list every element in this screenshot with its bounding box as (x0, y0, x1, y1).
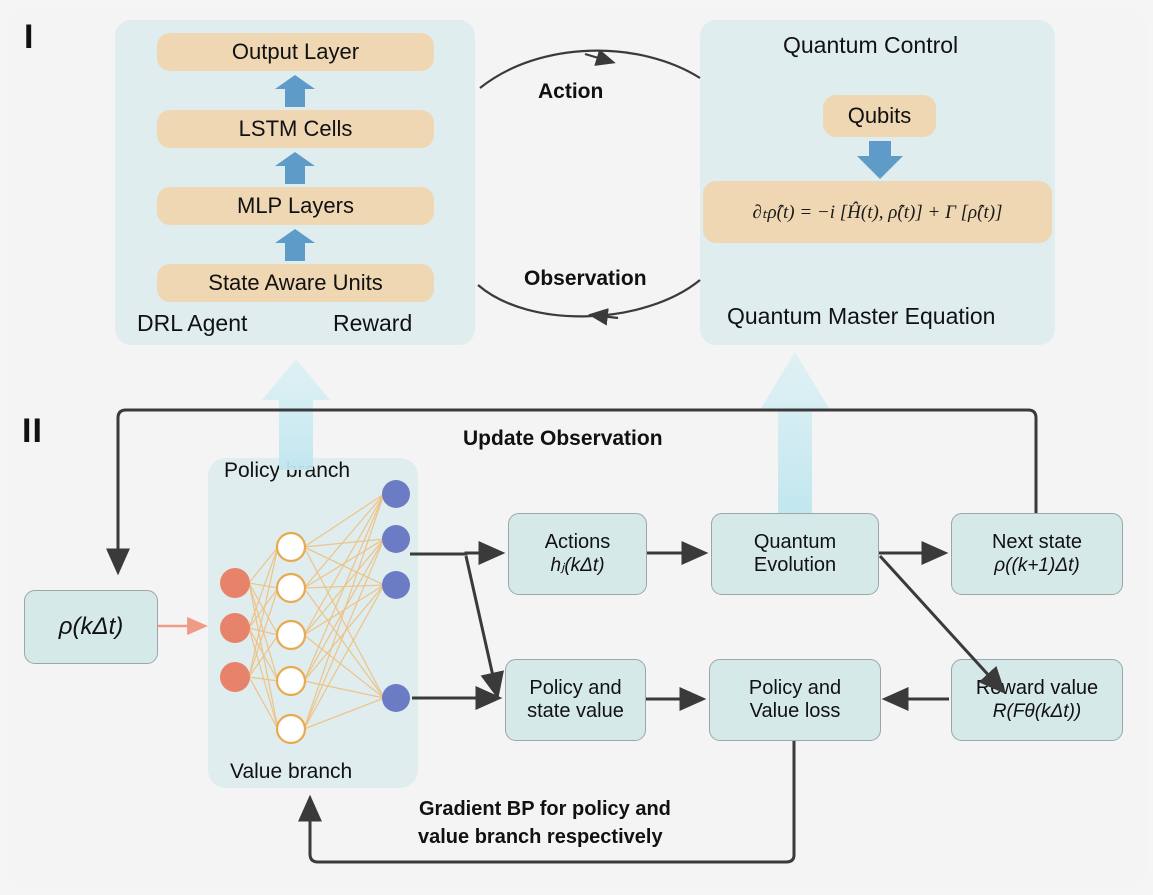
down-arrow-icon (855, 140, 905, 180)
next-state-line2: ρ((k+1)Δt) (994, 555, 1079, 577)
value-branch-label: Value branch (230, 760, 352, 784)
policy-value-loss-line1: Policy and (749, 677, 841, 700)
reward-caption: Reward (333, 310, 412, 337)
section-numeral-one: I (24, 18, 34, 57)
quantum-master-equation-box: ∂ₜρ̂(t) = −i [Ĥ(t), ρ̂(t)] + Γ [ρ̂(t)] (703, 181, 1052, 243)
action-label: Action (538, 80, 603, 104)
section-numeral-two: II (22, 412, 43, 451)
policy-state-value-box[interactable]: Policy and state value (505, 659, 646, 741)
actions-box[interactable]: Actions hⱼ(kΔt) (508, 513, 647, 595)
observation-label: Observation (524, 267, 647, 291)
policy-state-value-line1: Policy and (529, 677, 621, 700)
reward-value-box[interactable]: Reward value R(Fθ(kΔt)) (951, 659, 1123, 741)
state-box[interactable]: ρ(kΔt) (24, 590, 158, 664)
master-equation-text: ∂ₜρ̂(t) = −i [Ĥ(t), ρ̂(t)] + Γ [ρ̂(t)] (753, 201, 1003, 224)
quantum-evolution-line2: Evolution (754, 554, 836, 577)
layer-mlp-layers[interactable]: MLP Layers (157, 187, 434, 225)
actions-box-line2: hⱼ(kΔt) (550, 555, 604, 577)
layer-output-layer[interactable]: Output Layer (157, 33, 434, 71)
drl-agent-caption: DRL Agent (137, 310, 247, 337)
layer-state-aware-units[interactable]: State Aware Units (157, 264, 434, 302)
reward-value-line1: Reward value (976, 677, 1098, 700)
up-arrow-icon (274, 151, 316, 185)
quantum-control-title: Quantum Control (783, 32, 958, 59)
state-box-text: ρ(kΔt) (59, 613, 124, 641)
policy-value-loss-line2: Value loss (750, 700, 841, 723)
actions-box-line1: Actions (545, 531, 611, 554)
qubits-box[interactable]: Qubits (823, 95, 936, 137)
next-state-box[interactable]: Next state ρ((k+1)Δt) (951, 513, 1123, 595)
figure-root: I Output Layer LSTM Cells MLP Layers Sta… (0, 0, 1153, 895)
policy-state-value-line2: state value (527, 700, 624, 723)
policy-branch-label: Policy branch (224, 459, 350, 483)
layer-lstm-cells[interactable]: LSTM Cells (157, 110, 434, 148)
quantum-evolution-box[interactable]: Quantum Evolution (711, 513, 879, 595)
policy-value-loss-box[interactable]: Policy and Value loss (709, 659, 881, 741)
next-state-line1: Next state (992, 531, 1082, 554)
update-observation-label: Update Observation (463, 427, 663, 451)
quantum-master-equation-caption: Quantum Master Equation (727, 303, 995, 330)
up-arrow-icon (274, 228, 316, 262)
up-arrow-icon (274, 74, 316, 108)
reward-value-line2: R(Fθ(kΔt)) (993, 701, 1081, 723)
gradient-bp-label-line2: value branch respectively (418, 826, 663, 849)
quantum-evolution-line1: Quantum (754, 531, 836, 554)
neural-network-panel (208, 458, 418, 788)
gradient-bp-label-line1: Gradient BP for policy and (419, 798, 671, 821)
